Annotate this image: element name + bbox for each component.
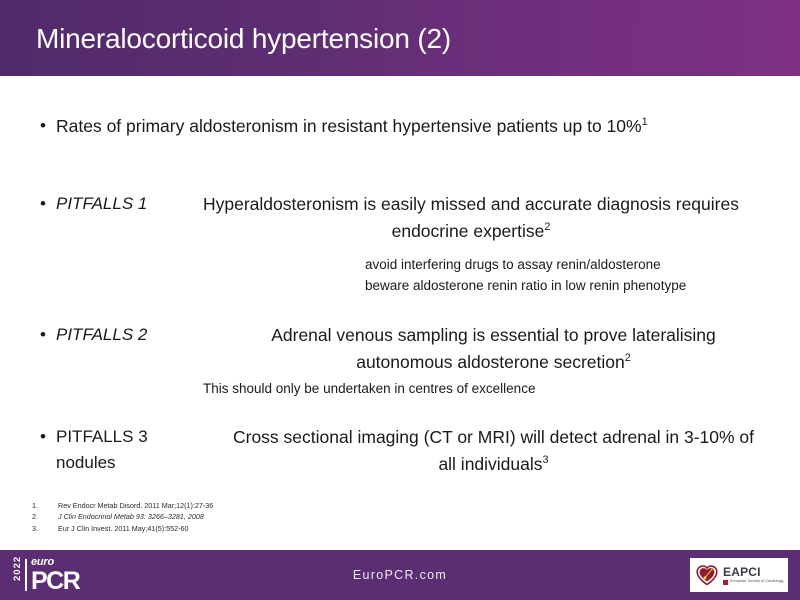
- bullet-icon: •: [40, 424, 56, 450]
- bullet-icon: •: [40, 191, 56, 217]
- pitfalls-3-superscript: 3: [543, 454, 549, 466]
- eapci-text-block: EAPCI European Society of Cardiology: [723, 566, 784, 585]
- bullet-rates-text: Rates of primary aldosteronism in resist…: [56, 113, 648, 139]
- reference-number: 1.: [32, 500, 58, 511]
- slide-footer: EuroPCR.com 2022 euro PCR EAPCI European…: [0, 550, 800, 600]
- bullet-pitfalls-2: • PITFALLS 2 Adrenal venous sampling is …: [40, 322, 756, 376]
- europcr-logo-year: 2022: [12, 570, 23, 581]
- reference-text: J Clin Endocrinol Metab 93: 3266–3281, 2…: [58, 511, 204, 522]
- esc-square-icon: [723, 580, 728, 585]
- reference-text: Rev Endocr Metab Disord. 2011 Mar;12(1):…: [58, 500, 213, 511]
- pitfalls-1-body: Hyperaldosteronism is easily missed and …: [191, 191, 751, 245]
- pitfalls-1-note-2: beware aldosterone renin ratio in low re…: [365, 275, 686, 296]
- bullet-icon: •: [40, 113, 56, 139]
- bullet-pitfalls-1: • PITFALLS 1 Hyperaldosteronism is easil…: [40, 191, 751, 245]
- reference-item: 3. Eur J Clin Invest. 2011 May;41(5):552…: [32, 523, 213, 534]
- pitfalls-1-line1: Hyperaldosteronism is easily missed and …: [203, 194, 671, 214]
- pitfalls-1-notes: avoid interfering drugs to assay renin/a…: [365, 254, 686, 296]
- eapci-name: EAPCI: [723, 566, 784, 578]
- eapci-society: European Society of Cardiology: [730, 580, 784, 584]
- reference-number: 3.: [32, 523, 58, 534]
- pitfalls-1-superscript: 2: [544, 221, 550, 233]
- heart-icon: [695, 564, 719, 586]
- logo-divider: [25, 559, 27, 591]
- pitfalls-2-note: This should only be undertaken in centre…: [203, 378, 535, 399]
- bullet-rates: • Rates of primary aldosteronism in resi…: [40, 113, 648, 139]
- reference-item: 1. Rev Endocr Metab Disord. 2011 Mar;12(…: [32, 500, 213, 511]
- eapci-subtitle: European Society of Cardiology: [723, 580, 784, 585]
- eapci-logo: EAPCI European Society of Cardiology: [690, 558, 788, 592]
- bullet-rates-superscript: 1: [642, 116, 648, 128]
- reference-list: 1. Rev Endocr Metab Disord. 2011 Mar;12(…: [32, 500, 213, 534]
- pitfalls-1-note-1: avoid interfering drugs to assay renin/a…: [365, 254, 686, 275]
- bullet-icon: •: [40, 322, 56, 348]
- pitfalls-3-label-group: PITFALLS 3 nodules: [56, 424, 231, 476]
- reference-item: 2. J Clin Endocrinol Metab 93: 3266–3281…: [32, 511, 213, 522]
- reference-number: 2.: [32, 511, 58, 522]
- pitfalls-3-line1: Cross sectional imaging (CT or MRI) will…: [233, 427, 661, 447]
- pitfalls-2-label: PITFALLS 2: [56, 322, 231, 348]
- reference-text: Eur J Clin Invest. 2011 May;41(5):552-60: [58, 523, 189, 534]
- pitfalls-3-label-line2: nodules: [56, 450, 231, 476]
- pitfalls-1-label: PITFALLS 1: [56, 191, 191, 217]
- bullet-pitfalls-3: • PITFALLS 3 nodules Cross sectional ima…: [40, 424, 756, 478]
- europcr-logo-euro: euro: [31, 557, 79, 568]
- page-title: Mineralocorticoid hypertension (2): [36, 23, 451, 55]
- slide-title-bar: Mineralocorticoid hypertension (2): [0, 0, 800, 76]
- bullet-rates-body: Rates of primary aldosteronism in resist…: [56, 116, 642, 136]
- europcr-logo: 2022 euro PCR: [12, 556, 79, 594]
- europcr-logo-pcr: PCR: [31, 569, 79, 594]
- europcr-logo-words: euro PCR: [31, 557, 79, 594]
- pitfalls-2-body: Adrenal venous sampling is essential to …: [231, 322, 756, 376]
- footer-url: EuroPCR.com: [0, 550, 800, 600]
- pitfalls-3-label: PITFALLS 3: [56, 427, 148, 446]
- pitfalls-2-line2: autonomous aldosterone secretion: [356, 352, 625, 372]
- pitfalls-2-line1: Adrenal venous sampling is essential to …: [271, 325, 716, 345]
- pitfalls-2-superscript: 2: [625, 352, 631, 364]
- slide-body: • Rates of primary aldosteronism in resi…: [0, 76, 800, 550]
- pitfalls-3-body: Cross sectional imaging (CT or MRI) will…: [231, 424, 756, 478]
